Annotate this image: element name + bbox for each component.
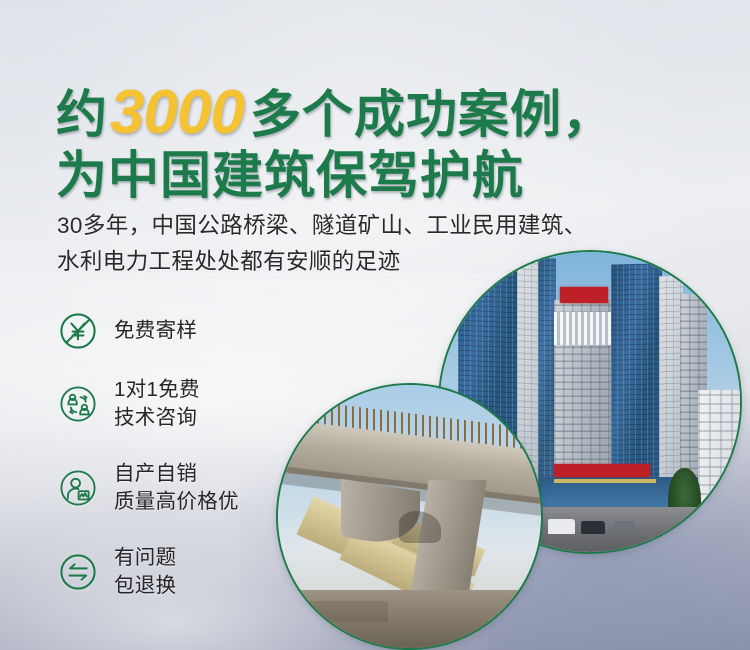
feature-label-line1: 自产自销 xyxy=(114,460,239,488)
side-white-building xyxy=(698,390,740,522)
person-chart-quality-icon xyxy=(58,468,98,508)
feature-label-line1: 1对1免费 xyxy=(114,376,200,404)
feature-label-line2: 技术咨询 xyxy=(114,404,200,432)
feature-label: 1对1免费 技术咨询 xyxy=(114,376,200,433)
rooftop-red-sign xyxy=(560,287,608,304)
headline-line-1: 约 3000 多个成功案例， xyxy=(56,78,716,141)
feature-item-free-sample[interactable]: 免费寄样 xyxy=(58,300,328,362)
podium-red-sign xyxy=(554,464,650,478)
promo-banner: 约 3000 多个成功案例， 为中国建筑保驾护航 30多年，中国公路桥梁、隧道矿… xyxy=(0,0,750,650)
feature-label: 有问题 包退换 xyxy=(114,544,176,601)
headline-block: 约 3000 多个成功案例， 为中国建筑保驾护航 xyxy=(56,78,716,202)
feature-item-one-on-one-consult[interactable]: 1对1免费 技术咨询 xyxy=(58,362,328,446)
headline-number: 3000 xyxy=(110,81,244,144)
headline-prefix: 约 xyxy=(56,89,108,141)
parked-car-dark xyxy=(581,521,605,535)
tower-center-colonnade xyxy=(554,312,614,345)
no-yen-free-sample-icon xyxy=(58,311,98,351)
podium-gold-band xyxy=(554,479,656,484)
feature-item-return-exchange[interactable]: 有问题 包退换 xyxy=(58,530,328,614)
headline-suffix: 多个成功案例， xyxy=(250,89,614,141)
description-line-1: 30多年，中国公路桥梁、隧道矿山、工业民用建筑、 xyxy=(57,208,737,244)
feature-label: 免费寄样 xyxy=(114,317,197,345)
feature-item-self-produced-quality[interactable]: 自产自销 质量高价格优 xyxy=(58,446,328,530)
headline-line2-text: 为中国建筑保驾护航 xyxy=(56,150,524,202)
feature-label-line2: 包退换 xyxy=(114,572,176,600)
feature-label-line1: 免费寄样 xyxy=(114,319,197,342)
parked-car-grey xyxy=(614,521,635,534)
feature-label-line1: 有问题 xyxy=(114,544,176,572)
parked-van-white xyxy=(548,519,575,534)
headline-line-2: 为中国建筑保驾护航 xyxy=(56,150,716,202)
feature-list: 免费寄样 1对1免费 技术咨询 xyxy=(58,300,328,614)
two-people-consult-icon xyxy=(58,384,98,424)
exchange-arrows-return-icon xyxy=(58,552,98,592)
feature-label-line2: 质量高价格优 xyxy=(114,488,239,516)
feature-label: 自产自销 质量高价格优 xyxy=(114,460,239,517)
